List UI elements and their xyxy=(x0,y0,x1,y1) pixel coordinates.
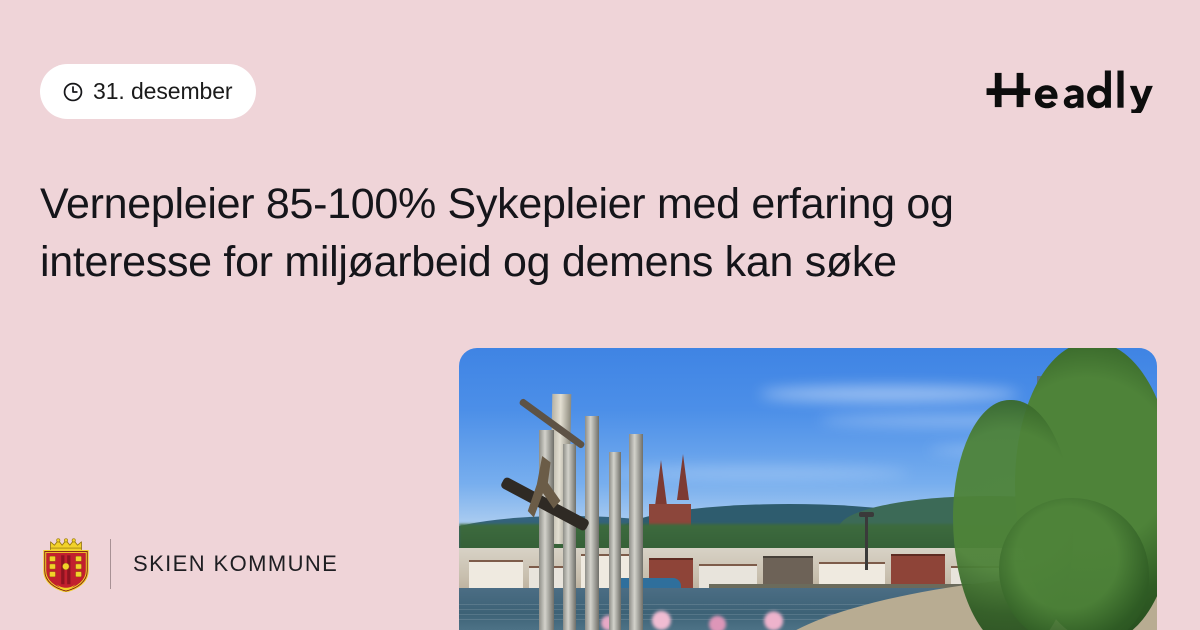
photo-sky xyxy=(459,348,1157,630)
article-headline: Vernepleier 85-100% Sykepleier med erfar… xyxy=(40,175,1050,292)
article-image xyxy=(459,348,1157,630)
street-lamp xyxy=(865,516,868,570)
date-label: 31. desember xyxy=(93,80,232,104)
headline-line-1: Vernepleier 85-100% Sykepleier med erfar… xyxy=(40,175,1050,233)
organization-name: SKIEN KOMMUNE xyxy=(133,553,338,575)
logo-divider xyxy=(110,539,111,589)
metal-sculpture xyxy=(537,402,667,630)
headline-line-2: interesse for miljøarbeid og demens kan … xyxy=(40,233,1050,291)
header-bar: 31. desember xyxy=(0,0,1200,150)
street-lamp-head xyxy=(859,512,874,517)
headly-logo xyxy=(983,64,1160,116)
skien-coat-of-arms-icon xyxy=(40,536,92,592)
cloud xyxy=(759,386,1019,402)
headly-wordmark-icon xyxy=(983,67,1160,113)
clock-icon xyxy=(62,81,84,103)
organization-logo: SKIEN KOMMUNE xyxy=(40,536,338,592)
date-badge: 31. desember xyxy=(40,64,256,119)
